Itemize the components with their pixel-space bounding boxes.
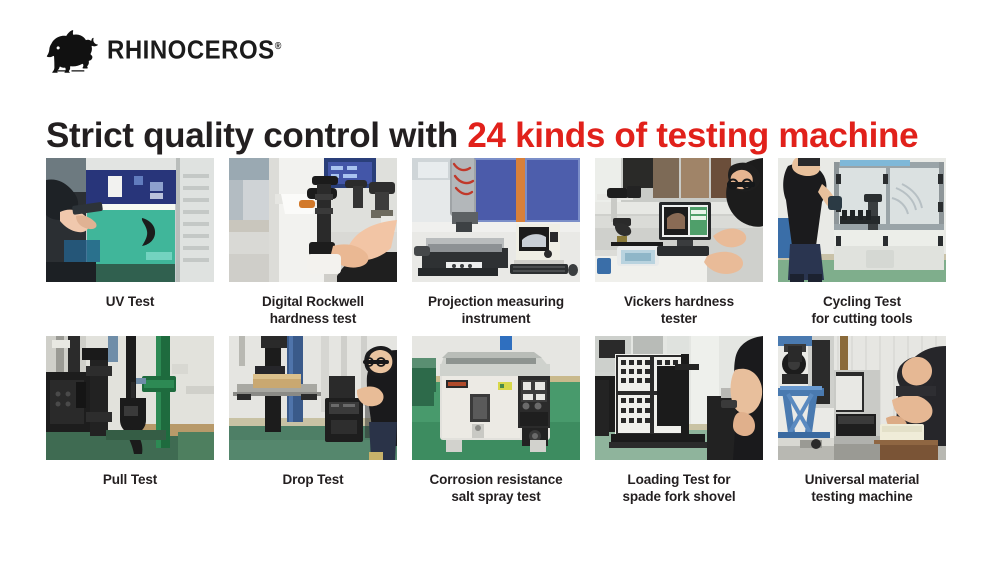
gallery-item-cycling-test[interactable]: Cycling Test for cutting tools — [778, 158, 946, 329]
photo-loading-test — [595, 336, 763, 460]
caption-cycling-test: Cycling Test for cutting tools — [778, 293, 946, 329]
caption-drop-test: Drop Test — [229, 471, 397, 507]
gallery-item-universal-material[interactable]: Universal material testing machine — [778, 336, 946, 507]
caption-digital-rockwell: Digital Rockwell hardness test — [229, 293, 397, 329]
caption-uv-test: UV Test — [46, 293, 214, 329]
photo-projection-measuring — [412, 158, 580, 282]
photo-cycling-test — [778, 158, 946, 282]
caption-projection-measuring: Projection measuring instrument — [412, 293, 580, 329]
gallery-item-projection-measuring[interactable]: Projection measuring instrument — [412, 158, 580, 329]
caption-vickers-hardness: Vickers hardness tester — [595, 293, 763, 329]
gallery-item-vickers-hardness[interactable]: Vickers hardness tester — [595, 158, 763, 329]
photo-vickers-hardness — [595, 158, 763, 282]
testing-machine-gallery: UV Test — [46, 158, 956, 507]
photo-corrosion-salt-spray — [412, 336, 580, 460]
gallery-item-loading-test[interactable]: Loading Test for spade fork shovel — [595, 336, 763, 507]
slide-root: RHINOCEROS® Strict quality control with … — [0, 0, 1000, 562]
title-accent: 24 kinds of testing machine — [467, 116, 918, 155]
registered-mark: ® — [275, 40, 282, 51]
brand-logo: RHINOCEROS® — [44, 26, 254, 76]
photo-drop-test — [229, 336, 397, 460]
caption-loading-test: Loading Test for spade fork shovel — [595, 471, 763, 507]
photo-digital-rockwell — [229, 158, 397, 282]
caption-pull-test: Pull Test — [46, 471, 214, 507]
caption-universal-material: Universal material testing machine — [778, 471, 946, 507]
title-lead: Strict quality control with — [46, 116, 467, 155]
gallery-item-digital-rockwell[interactable]: Digital Rockwell hardness test — [229, 158, 397, 329]
gallery-item-corrosion-salt-spray[interactable]: Corrosion resistance salt spray test — [412, 336, 580, 507]
rhino-icon — [44, 27, 106, 73]
photo-pull-test — [46, 336, 214, 460]
gallery-item-pull-test[interactable]: Pull Test — [46, 336, 214, 507]
gallery-item-uv-test[interactable]: UV Test — [46, 158, 214, 329]
photo-universal-material — [778, 336, 946, 460]
page-title: Strict quality control with 24 kinds of … — [46, 115, 918, 157]
photo-uv-test — [46, 158, 214, 282]
gallery-item-drop-test[interactable]: Drop Test — [229, 336, 397, 507]
caption-corrosion-salt-spray: Corrosion resistance salt spray test — [412, 471, 580, 507]
brand-wordmark: RHINOCEROS® — [107, 36, 282, 66]
